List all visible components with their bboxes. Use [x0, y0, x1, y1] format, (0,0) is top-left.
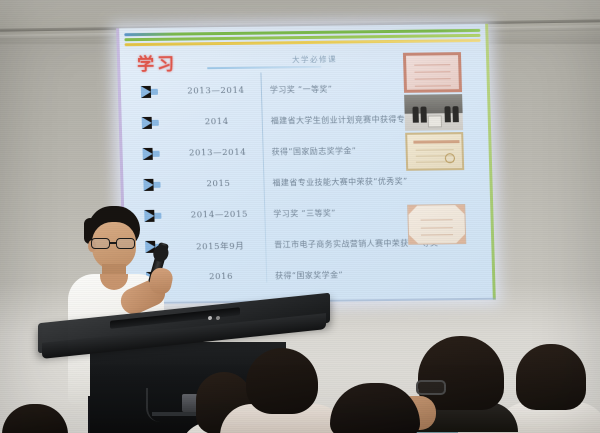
arrow-right-icon: [143, 148, 169, 159]
slide-subtitle: 大学必修课: [292, 54, 337, 66]
certificate-tan-corners: [407, 204, 466, 245]
arrow-right-icon: [143, 117, 169, 128]
row-year: 2016: [181, 271, 261, 282]
row-year: 2015: [178, 178, 258, 189]
eyeglasses-icon: [90, 238, 140, 249]
certificate-gold-seal: [405, 132, 464, 171]
row-year: 2014—2015: [179, 209, 259, 220]
row-year: 2013—2014: [178, 147, 258, 158]
slide-title-rule: [207, 66, 321, 69]
row-year: 2014: [177, 116, 257, 127]
award-ceremony-photo: [404, 94, 463, 131]
eyeglasses-icon: [416, 380, 446, 395]
arrow-right-icon: [144, 179, 170, 190]
certificate-red-border: [403, 52, 462, 93]
slide-title: 学习: [137, 50, 178, 75]
lecture-photo: 学习 大学必修课 2013—2014 学习奖 “一等奖” 2014 福建省大学生…: [0, 0, 600, 433]
row-description: 获得“国家奖学金”: [275, 268, 455, 281]
row-year: 2015年9月: [180, 239, 260, 252]
row-year: 2013—2014: [176, 85, 256, 96]
lectern-cable: [146, 388, 168, 422]
arrow-right-icon: [142, 86, 168, 97]
row-description: 福建省专业技能大赛中荣获“优秀奖”: [272, 175, 452, 188]
slide-row: 2016 获得“国家奖学金”: [123, 258, 496, 294]
